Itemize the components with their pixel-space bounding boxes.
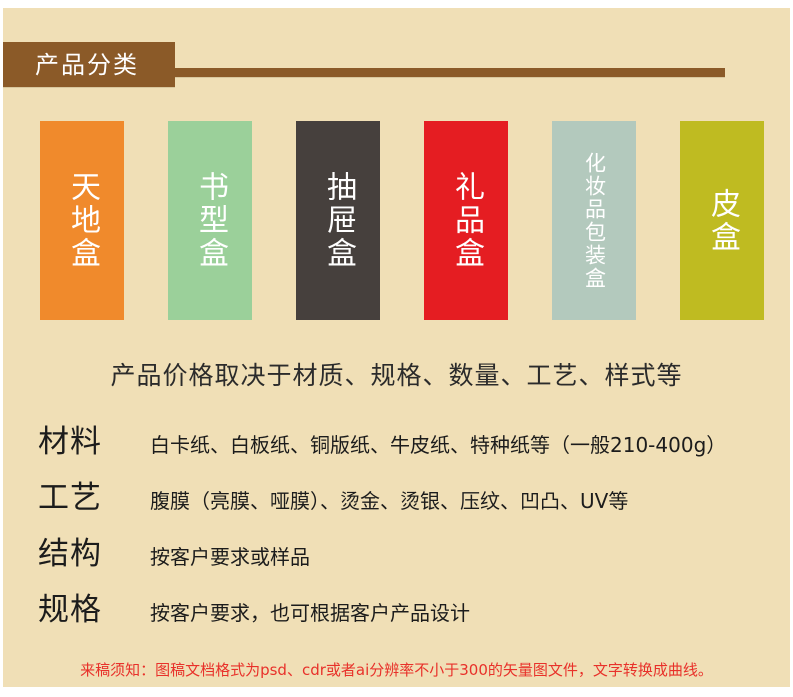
category-card-lipinhe[interactable]: 礼品盒 xyxy=(424,121,508,320)
spec-row: 结构 按客户要求或样品 xyxy=(38,528,768,573)
spec-row: 规格 按客户要求，也可根据客户产品设计 xyxy=(38,584,768,629)
category-label: 礼品盒 xyxy=(424,121,508,320)
product-category-poster: 产品分类 天地盒 书型盒 抽屉盒 礼品盒 化妆品包装盒 皮盒 产品价格取决于材质… xyxy=(0,0,793,697)
spec-key-spec: 规格 xyxy=(38,584,150,629)
category-card-chouthe[interactable]: 抽屉盒 xyxy=(296,121,380,320)
section-header: 产品分类 xyxy=(3,42,790,90)
spec-value-material: 白卡纸、白板纸、铜版纸、牛皮纸、特种纸等（一般210-400g） xyxy=(150,429,726,458)
category-label: 化妆品包装盒 xyxy=(552,121,636,320)
spec-row: 材料 白卡纸、白板纸、铜版纸、牛皮纸、特种纸等（一般210-400g） xyxy=(38,416,768,461)
category-card-pihe[interactable]: 皮盒 xyxy=(680,121,764,320)
category-list: 天地盒 书型盒 抽屉盒 礼品盒 化妆品包装盒 皮盒 xyxy=(3,121,790,321)
spec-key-structure: 结构 xyxy=(38,528,150,573)
spec-row: 工艺 腹膜（亮膜、哑膜）、烫金、烫银、压纹、凹凸、UV等 xyxy=(38,472,768,517)
header-badge: 产品分类 xyxy=(3,42,175,88)
category-card-huazhuangpin[interactable]: 化妆品包装盒 xyxy=(552,121,636,320)
spec-value-spec: 按客户要求，也可根据客户产品设计 xyxy=(150,597,470,626)
category-card-tiandihe[interactable]: 天地盒 xyxy=(40,121,124,320)
spec-key-material: 材料 xyxy=(38,416,150,461)
category-label: 皮盒 xyxy=(680,121,764,320)
category-label: 天地盒 xyxy=(40,121,124,320)
spec-value-craft: 腹膜（亮膜、哑膜）、烫金、烫银、压纹、凹凸、UV等 xyxy=(150,485,628,514)
spec-key-craft: 工艺 xyxy=(38,472,150,517)
category-label: 抽屉盒 xyxy=(296,121,380,320)
submission-notice: 来稿须知：图稿文档格式为psd、cdr或者ai分辨率不小于300的矢量图文件，文… xyxy=(3,659,790,680)
category-card-shuxinghe[interactable]: 书型盒 xyxy=(168,121,252,320)
category-label: 书型盒 xyxy=(168,121,252,320)
price-note: 产品价格取决于材质、规格、数量、工艺、样式等 xyxy=(3,356,790,392)
spec-value-structure: 按客户要求或样品 xyxy=(150,541,310,570)
page-title: 产品分类 xyxy=(35,49,139,81)
